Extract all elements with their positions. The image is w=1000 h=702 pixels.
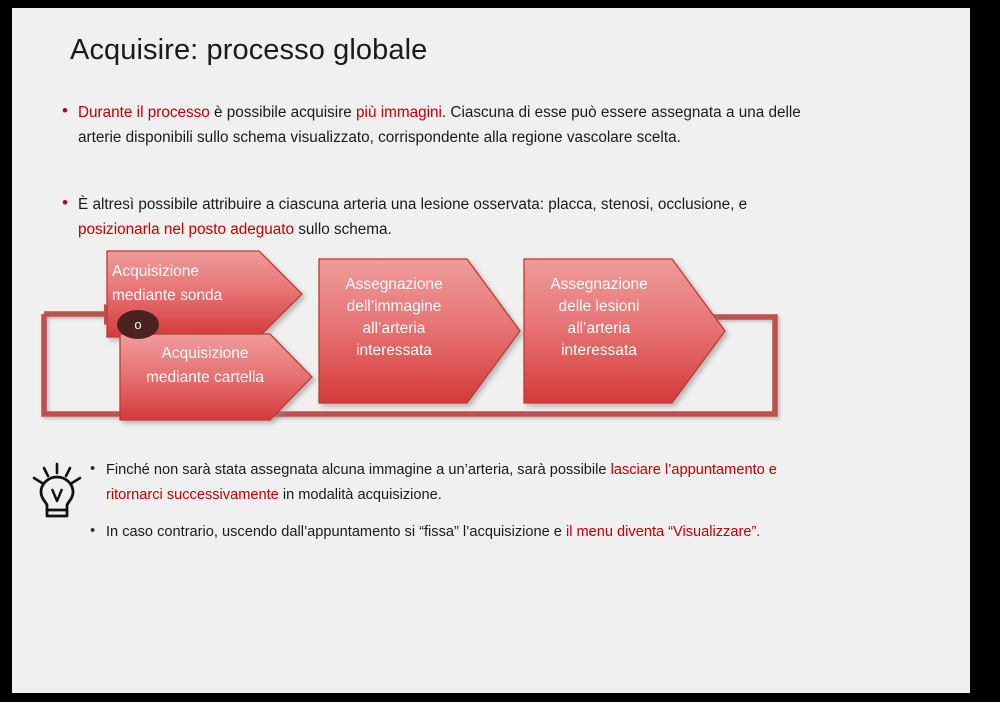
chevron-assegnazione-lesioni <box>524 259 725 403</box>
tip-bullet-text-2: In caso contrario, uscendo dall’appuntam… <box>106 520 760 545</box>
bullet-text-1: Durante il processo è possibile acquisir… <box>78 100 822 150</box>
bullet-2-seg-1: posizionarla nel posto adeguato <box>78 221 294 238</box>
chevron-assegnazione-immagine <box>319 259 520 403</box>
bullet-1-seg-2: più immagini <box>356 104 442 121</box>
chevron-line: Assegnazione <box>319 274 469 296</box>
chevron-line: interessata <box>319 340 469 362</box>
tip-bullet-text-1: Finché non sarà stata assegnata alcuna i… <box>106 458 780 508</box>
bullet-2-seg-2: sullo schema. <box>294 221 392 238</box>
tip-1-seg-0: Finché non sarà stata assegnata alcuna i… <box>106 462 611 478</box>
slide-frame: Acquisire: processo globale • Durante il… <box>12 8 970 693</box>
chevron-line: dell’immagine <box>319 296 469 318</box>
bullet-text-2: È altresì possibile attribuire a ciascun… <box>78 192 822 242</box>
chevron-line: delle lesioni <box>524 296 674 318</box>
chevron-line: all’arteria <box>524 318 674 340</box>
chevron-line: interessata <box>524 340 674 362</box>
lightbulb-icon <box>26 460 88 522</box>
bullet-marker-icon: • <box>62 100 78 122</box>
chevron-line: mediante cartella <box>125 366 285 390</box>
bullet-1-seg-1: è possibile acquisire <box>210 104 356 121</box>
bullet-marker-icon: • <box>62 192 78 214</box>
chevron-line: mediante sonda <box>112 284 262 308</box>
tip-2-seg-1: il menu diventa “Visualizzare”. <box>566 524 760 540</box>
tip-2-seg-0: In caso contrario, uscendo dall’appuntam… <box>106 524 566 540</box>
bullet-marker-icon: • <box>90 520 106 542</box>
chevron-line: Assegnazione <box>524 274 674 296</box>
bullet-item-1: • Durante il processo è possibile acquis… <box>62 100 822 150</box>
chevron-label-acquisizione-cartella: Acquisizione mediante cartella <box>125 342 285 390</box>
page-title: Acquisire: processo globale <box>70 34 427 67</box>
chevron-line: Acquisizione <box>112 260 262 284</box>
tip-bullet-item-2: • In caso contrario, uscendo dall’appunt… <box>90 520 780 545</box>
bullet-1-seg-0: Durante il processo <box>78 104 210 121</box>
chevron-label-assegnazione-lesioni: Assegnazione delle lesioni all’arteria i… <box>524 274 674 362</box>
bullet-item-2: • È altresì possibile attribuire a ciasc… <box>62 192 822 242</box>
chevron-line: all’arteria <box>319 318 469 340</box>
connector-or-badge: o <box>117 310 159 339</box>
chevron-line: Acquisizione <box>125 342 285 366</box>
chevron-label-acquisizione-sonda: Acquisizione mediante sonda <box>112 260 262 308</box>
tip-bullet-item-1: • Finché non sarà stata assegnata alcuna… <box>90 458 780 508</box>
bullet-marker-icon: • <box>90 458 106 480</box>
tip-1-seg-2: in modalità acquisizione. <box>279 487 442 503</box>
bullet-2-seg-0: È altresì possibile attribuire a ciascun… <box>78 196 747 213</box>
chevron-label-assegnazione-immagine: Assegnazione dell’immagine all’arteria i… <box>319 274 469 362</box>
chevron-acquisizione-cartella <box>120 334 312 420</box>
